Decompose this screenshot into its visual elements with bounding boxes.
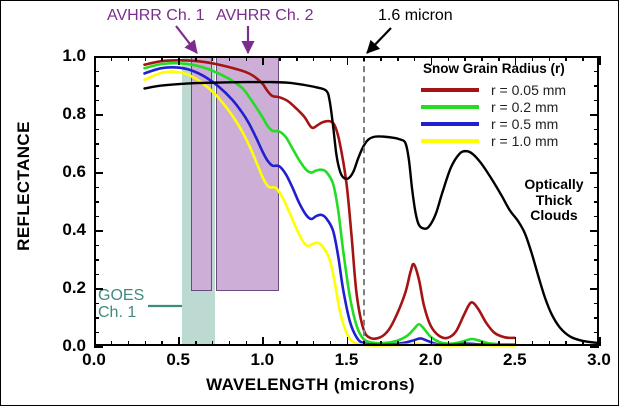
series-r-0-5-mm (145, 67, 515, 345)
y-tick-10 (94, 201, 99, 203)
x-tick-9 (246, 341, 248, 346)
x-tick-top-23 (481, 56, 483, 61)
x-tick-top-5 (178, 56, 180, 65)
y-tick-right-20 (590, 56, 599, 58)
y-tick-1 (94, 332, 99, 334)
x-tick-top-18 (397, 56, 399, 61)
y-tick-17 (94, 100, 99, 102)
x-tick-label-1: 0.5 (148, 350, 208, 370)
x-tick-top-8 (229, 56, 231, 61)
y-tick-right-4 (590, 288, 599, 290)
x-tick-top-26 (532, 56, 534, 61)
x-tick-15 (347, 337, 349, 346)
y-tick-4 (94, 288, 103, 290)
y-tick-right-6 (594, 259, 599, 261)
y-tick-19 (94, 71, 99, 73)
y-tick-label-4: 0.8 (40, 104, 86, 124)
y-tick-11 (94, 187, 99, 189)
y-tick-0 (94, 346, 103, 348)
y-tick-right-7 (594, 245, 599, 247)
x-tick-top-7 (212, 56, 214, 61)
x-tick-top-17 (380, 56, 382, 61)
x-tick-top-6 (195, 56, 197, 61)
marker-line-1-6-micron (363, 56, 365, 346)
x-tick-19 (414, 341, 416, 346)
y-tick-right-15 (594, 129, 599, 131)
x-tick-top-9 (246, 56, 248, 61)
x-tick-20 (431, 337, 433, 346)
x-tick-17 (380, 341, 382, 346)
x-tick-top-4 (161, 56, 163, 61)
x-tick-top-3 (145, 56, 147, 61)
y-tick-right-1 (594, 332, 599, 334)
x-tick-top-27 (549, 56, 551, 61)
series-optically-thick-clouds (145, 82, 600, 343)
x-tick-25 (515, 337, 517, 346)
x-tick-5 (178, 337, 180, 346)
y-tick-right-5 (594, 274, 599, 276)
x-tick-2 (128, 341, 130, 346)
x-tick-top-10 (262, 56, 264, 65)
x-tick-24 (498, 341, 500, 346)
x-tick-7 (212, 341, 214, 346)
data-curves (94, 56, 599, 346)
y-tick-15 (94, 129, 99, 131)
y-tick-right-19 (594, 71, 599, 73)
y-tick-5 (94, 274, 99, 276)
x-tick-27 (549, 341, 551, 346)
y-tick-2 (94, 317, 99, 319)
x-tick-top-25 (515, 56, 517, 65)
x-tick-6 (195, 341, 197, 346)
x-tick-14 (330, 341, 332, 346)
x-tick-top-22 (464, 56, 466, 61)
y-tick-right-16 (590, 114, 599, 116)
x-tick-23 (481, 341, 483, 346)
x-tick-top-12 (296, 56, 298, 61)
x-tick-top-15 (347, 56, 349, 65)
y-tick-7 (94, 245, 99, 247)
y-tick-right-18 (594, 85, 599, 87)
y-tick-right-8 (590, 230, 599, 232)
x-tick-22 (464, 341, 466, 346)
x-tick-top-24 (498, 56, 500, 61)
x-tick-28 (565, 341, 567, 346)
figure: AVHRR Ch. 1 AVHRR Ch. 2 1.6 micron GOES … (0, 0, 619, 406)
x-tick-top-1 (111, 56, 113, 61)
y-tick-label-1: 0.2 (40, 278, 86, 298)
y-tick-right-10 (594, 201, 599, 203)
x-tick-1 (111, 341, 113, 346)
y-tick-label-0: 0.0 (40, 336, 86, 356)
x-tick-label-5: 2.5 (485, 350, 545, 370)
y-tick-13 (94, 158, 99, 160)
x-tick-3 (145, 341, 147, 346)
x-tick-29 (582, 341, 584, 346)
x-tick-8 (229, 341, 231, 346)
x-tick-top-29 (582, 56, 584, 61)
y-tick-label-2: 0.4 (40, 220, 86, 240)
x-tick-12 (296, 341, 298, 346)
x-tick-11 (279, 341, 281, 346)
x-tick-top-11 (279, 56, 281, 61)
y-axis-title: REFLECTANCE (14, 71, 34, 301)
y-tick-label-3: 0.6 (40, 162, 86, 182)
y-tick-12 (94, 172, 103, 174)
x-tick-top-14 (330, 56, 332, 61)
x-tick-13 (313, 341, 315, 346)
x-tick-label-6: 3.0 (569, 350, 619, 370)
y-tick-label-5: 1.0 (40, 46, 86, 66)
y-tick-right-12 (590, 172, 599, 174)
y-tick-right-11 (594, 187, 599, 189)
y-tick-right-9 (594, 216, 599, 218)
plot-area (94, 56, 599, 346)
y-tick-right-2 (594, 317, 599, 319)
y-tick-right-3 (594, 303, 599, 305)
x-tick-top-21 (448, 56, 450, 61)
x-tick-10 (262, 337, 264, 346)
x-tick-0 (94, 337, 96, 346)
x-axis-title: WAVELENGTH (microns) (1, 375, 619, 395)
y-tick-right-14 (594, 143, 599, 145)
x-tick-top-20 (431, 56, 433, 65)
y-tick-16 (94, 114, 103, 116)
y-tick-18 (94, 85, 99, 87)
arrow-avhrr-ch1 (176, 26, 197, 53)
x-tick-label-4: 2.0 (401, 350, 461, 370)
y-tick-right-0 (590, 346, 599, 348)
x-tick-label-2: 1.0 (232, 350, 292, 370)
x-tick-26 (532, 341, 534, 346)
x-tick-4 (161, 341, 163, 346)
y-tick-14 (94, 143, 99, 145)
y-tick-9 (94, 216, 99, 218)
y-tick-6 (94, 259, 99, 261)
x-tick-top-28 (565, 56, 567, 61)
y-tick-3 (94, 303, 99, 305)
x-tick-18 (397, 341, 399, 346)
series-r-1-0-mm (145, 72, 515, 346)
x-tick-top-13 (313, 56, 315, 61)
x-tick-label-3: 1.5 (317, 350, 377, 370)
arrow-1-6-micron (367, 28, 391, 53)
x-tick-top-19 (414, 56, 416, 61)
x-tick-16 (363, 341, 365, 346)
y-tick-20 (94, 56, 103, 58)
y-tick-right-13 (594, 158, 599, 160)
x-tick-top-16 (363, 56, 365, 61)
y-tick-8 (94, 230, 103, 232)
x-tick-top-2 (128, 56, 130, 61)
x-tick-30 (599, 337, 601, 346)
x-tick-top-30 (599, 56, 601, 65)
x-tick-21 (448, 341, 450, 346)
y-tick-right-17 (594, 100, 599, 102)
